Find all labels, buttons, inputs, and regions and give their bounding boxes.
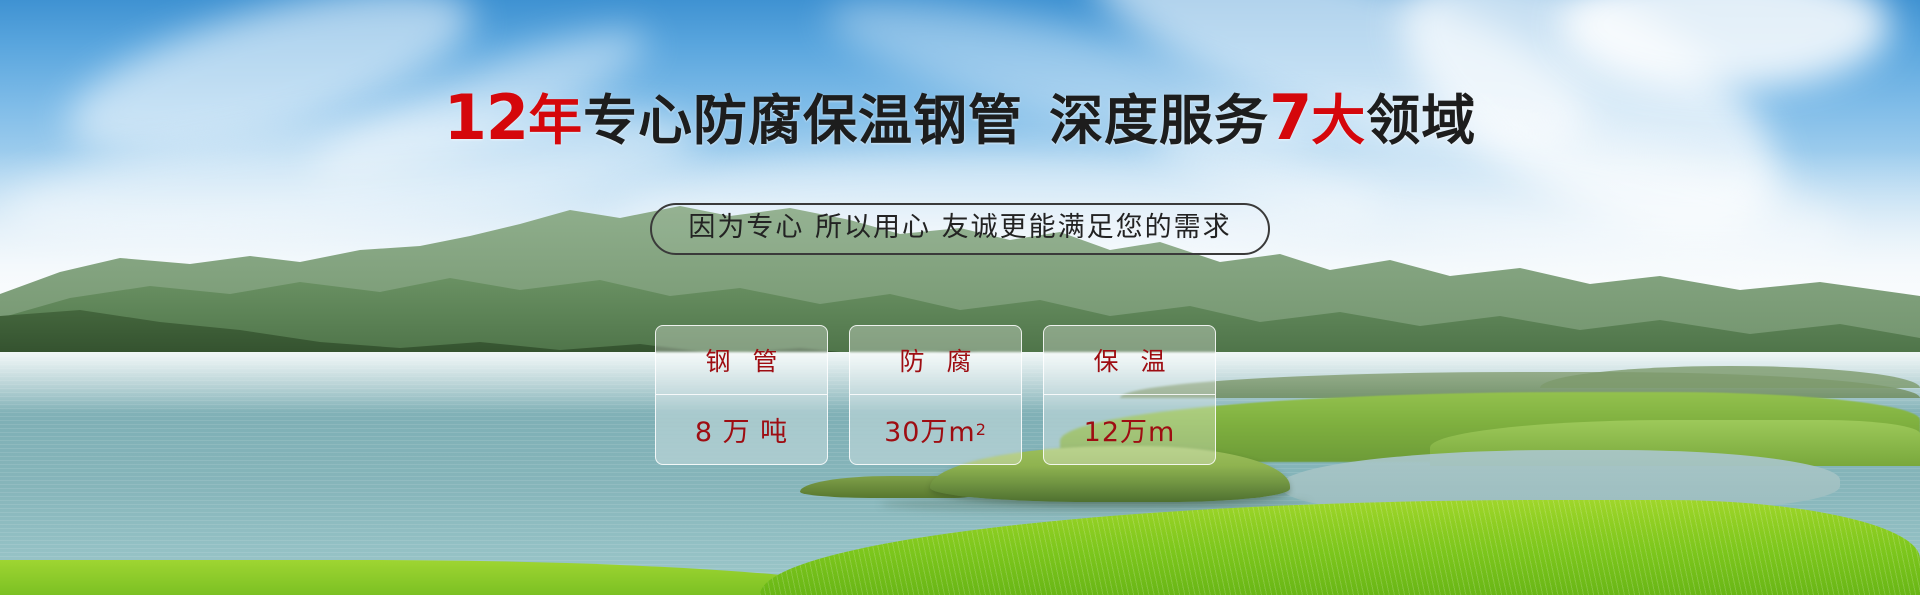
- stat-value: 8 万 吨: [656, 395, 827, 464]
- subtitle-container: 因为专心 所以用心 友诚更能满足您的需求: [0, 203, 1920, 255]
- stat-value: 12万m: [1044, 395, 1215, 464]
- stat-value-text: 12万m: [1084, 410, 1176, 449]
- headline-service-text: 深度服务: [1049, 89, 1269, 152]
- stat-value-text: 8 万 吨: [695, 410, 788, 449]
- headline-years-number: 12: [444, 81, 528, 154]
- headline-years-unit: 年: [528, 89, 583, 152]
- stat-card-insulation: 保 温 12万m: [1043, 325, 1216, 465]
- stat-card-anticorrosion: 防 腐 30万m2: [849, 325, 1022, 465]
- stat-label: 防 腐: [850, 326, 1021, 395]
- hero-banner: 12年专心防腐保温钢管深度服务7大领域 因为专心 所以用心 友诚更能满足您的需求…: [0, 0, 1920, 595]
- stats-card-group: 钢 管 8 万 吨 防 腐 30万m2 保 温 12万m: [655, 325, 1216, 465]
- stat-card-steel-pipe: 钢 管 8 万 吨: [655, 325, 828, 465]
- headline-fields-unit: 大: [1311, 89, 1366, 152]
- stat-value: 30万m2: [850, 395, 1021, 464]
- subtitle-pill: 因为专心 所以用心 友诚更能满足您的需求: [650, 203, 1269, 255]
- stat-label: 钢 管: [656, 326, 827, 395]
- stat-value-text: 30万m: [884, 410, 976, 449]
- headline-main-text: 专心防腐保温钢管: [583, 89, 1023, 152]
- headline-fields-text: 领域: [1366, 89, 1476, 152]
- headline-fields-number: 7: [1269, 81, 1311, 154]
- banner-content: 12年专心防腐保温钢管深度服务7大领域 因为专心 所以用心 友诚更能满足您的需求…: [0, 0, 1920, 595]
- page-title: 12年专心防腐保温钢管深度服务7大领域: [0, 88, 1920, 151]
- stat-label: 保 温: [1044, 326, 1215, 395]
